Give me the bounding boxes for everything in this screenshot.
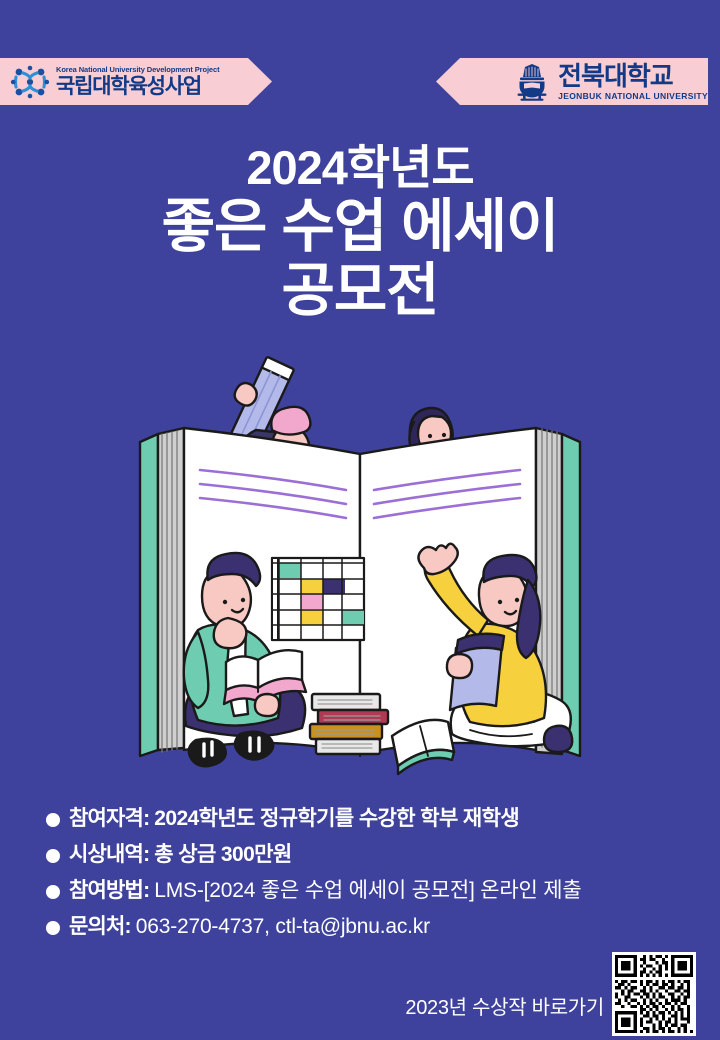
jbnu-text-block: 전북대학교 JEONBUK NATIONAL UNIVERSITY (558, 63, 708, 101)
info-value: 2024학년도 정규학기를 수강한 학부 재학생 (154, 802, 519, 832)
info-label: 참여자격: (69, 802, 149, 832)
knudp-pinwheel-logo-icon (10, 64, 50, 100)
title-line-2: 좋은 수업 에세이 (0, 196, 720, 259)
open-book-illustration (0, 330, 720, 790)
info-list: 참여자격: 2024학년도 정규학기를 수강한 학부 재학생 시상내역: 총 상… (46, 802, 686, 946)
jbnu-banner: 전북대학교 JEONBUK NATIONAL UNIVERSITY (436, 58, 720, 105)
info-label: 참여방법: (69, 874, 149, 904)
info-label: 문의처: (69, 910, 131, 940)
poster-title: 2024학년도 좋은 수업 에세이 공모전 (0, 143, 720, 323)
info-value: 063-270-4737, ctl-ta@jbnu.ac.kr (136, 915, 430, 939)
calendar-grid-icon (272, 558, 364, 640)
knudp-korean-line: 국립대학육성사업 (56, 76, 219, 97)
info-row-contact: 문의처: 063-270-4737, ctl-ta@jbnu.ac.kr (46, 910, 686, 940)
knudp-english-line: Korea National University Development Pr… (56, 66, 219, 74)
info-row-how-to-participate: 참여방법: LMS-[2024 좋은 수업 에세이 공모전] 온라인 제출 (46, 874, 686, 904)
info-value: 총 상금 300만원 (154, 838, 291, 868)
jbnu-korean-name: 전북대학교 (558, 63, 708, 89)
knudp-text-block: Korea National University Development Pr… (56, 66, 219, 97)
filled-circle-bullet-icon (46, 921, 60, 935)
qr-code-icon[interactable] (612, 952, 696, 1036)
filled-circle-bullet-icon (46, 849, 60, 863)
info-label: 시상내역: (69, 838, 149, 868)
previous-winners-link-label[interactable]: 2023년 수상작 바로가기 (405, 991, 604, 1020)
title-line-3: 공모전 (0, 260, 720, 323)
info-value: LMS-[2024 좋은 수업 에세이 공모전] 온라인 제출 (154, 874, 581, 904)
book-stack-icon (310, 694, 388, 754)
knudp-banner: Korea National University Development Pr… (0, 58, 282, 105)
info-row-participation-eligibility: 참여자격: 2024학년도 정규학기를 수강한 학부 재학생 (46, 802, 686, 832)
qr-code-matrix (615, 955, 693, 1033)
jbnu-english-name: JEONBUK NATIONAL UNIVERSITY (558, 92, 708, 101)
info-row-prize: 시상내역: 총 상금 300만원 (46, 838, 686, 868)
title-line-1: 2024학년도 (0, 143, 720, 194)
poster-root: Korea National University Development Pr… (0, 0, 720, 1040)
jbnu-crest-icon (515, 63, 549, 101)
filled-circle-bullet-icon (46, 813, 60, 827)
filled-circle-bullet-icon (46, 885, 60, 899)
